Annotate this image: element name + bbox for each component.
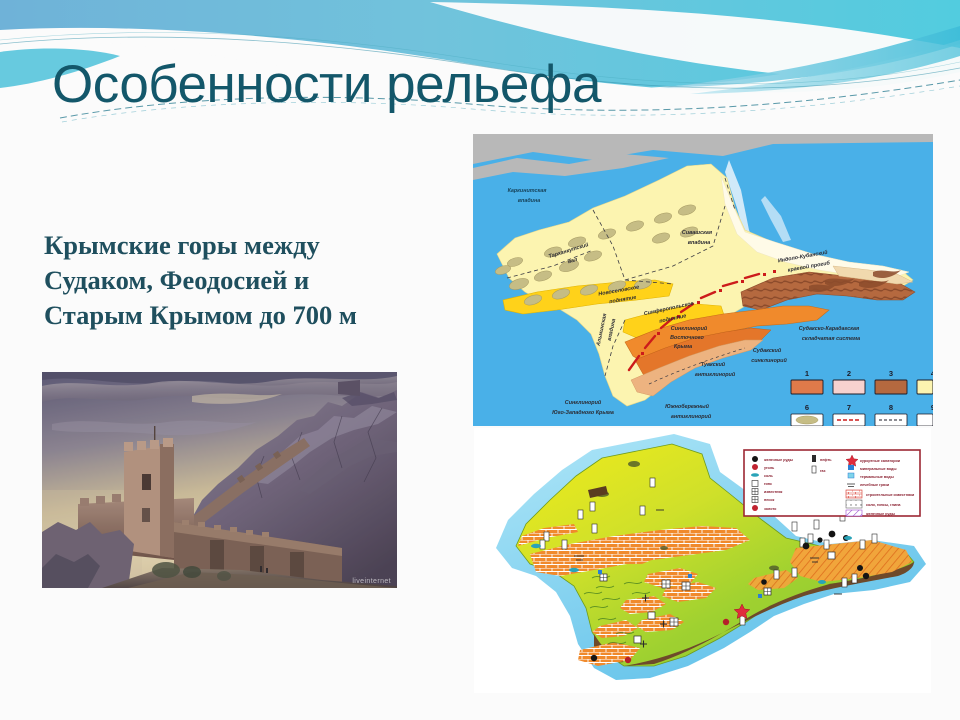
svg-text:8: 8 (889, 403, 893, 412)
mineral-resources-map-of-crimea: железные руды уголь соль гипс известняк … (474, 428, 931, 693)
svg-text:известняк: известняк (764, 490, 783, 494)
svg-text:синклинорий: синклинорий (751, 357, 787, 364)
svg-text:6: 6 (805, 403, 809, 412)
svg-text:1: 1 (805, 369, 809, 378)
svg-text:газ: газ (820, 469, 826, 473)
body-text-line: Старым Крымом до 700 м (44, 298, 444, 333)
svg-text:Южнобережный: Южнобережный (665, 403, 710, 410)
svg-text:нефть: нефть (820, 458, 832, 462)
svg-text:9: 9 (931, 403, 933, 412)
svg-text:соль: соль (764, 474, 774, 478)
svg-text:Судакско-Карадагская: Судакско-Карадагская (799, 326, 860, 332)
tectonic-map-of-crimea: Каркинитская впадина Тарханкутский вал С… (473, 134, 933, 426)
svg-text:термальные воды: термальные воды (860, 475, 894, 479)
svg-text:4: 4 (931, 369, 933, 378)
svg-text:гипс: гипс (764, 482, 772, 486)
genoese-fortress-sudak-photo: liveinternet (42, 372, 397, 588)
svg-text:курортные санатории: курортные санатории (860, 459, 901, 463)
body-text-line: Крымские горы между (44, 228, 444, 263)
svg-text:Восточного: Восточного (670, 335, 704, 341)
svg-text:золото: золото (764, 507, 777, 511)
svg-text:Сивашская: Сивашская (682, 230, 713, 236)
svg-text:лечебные грязи: лечебные грязи (860, 483, 890, 487)
svg-text:Юго-Западного Крыма: Юго-Западного Крыма (552, 410, 614, 416)
svg-text:Судакский: Судакский (753, 347, 782, 354)
photo-credit-watermark: liveinternet (352, 578, 391, 585)
svg-text:железные руды: железные руды (763, 458, 793, 462)
svg-text:Крыма: Крыма (674, 344, 692, 350)
svg-text:3: 3 (889, 369, 893, 378)
svg-text:строительные известняки: строительные известняки (866, 493, 915, 497)
svg-text:впадина: впадина (518, 198, 540, 204)
svg-text:Синклинорий: Синклинорий (671, 325, 708, 332)
svg-text:антиклинорий: антиклинорий (695, 371, 736, 378)
svg-text:7: 7 (847, 403, 851, 412)
minerals-legend: железные руды уголь соль гипс известняк … (744, 450, 920, 516)
svg-text:Туакский: Туакский (701, 361, 726, 368)
svg-text:впадина: впадина (688, 240, 710, 246)
svg-text:2: 2 (847, 369, 851, 378)
body-text-block: Крымские горы между Судаком, Феодосией и… (44, 228, 444, 333)
svg-text:железные руды: железные руды (865, 512, 895, 516)
body-text-line: Судаком, Феодосией и (44, 263, 444, 298)
page-title: Особенности рельефа (52, 57, 601, 113)
svg-text:песок: песок (764, 498, 775, 502)
svg-text:уголь: уголь (764, 466, 775, 470)
svg-text:минеральные воды: минеральные воды (860, 467, 897, 471)
svg-text:соли, гипсы, глина: соли, гипсы, глина (866, 503, 901, 507)
svg-text:Каркинитская: Каркинитская (508, 188, 548, 194)
svg-text:антиклинорий: антиклинорий (671, 413, 712, 420)
svg-text:складчатая система: складчатая система (802, 336, 860, 342)
svg-text:Синклинорий: Синклинорий (565, 399, 602, 406)
